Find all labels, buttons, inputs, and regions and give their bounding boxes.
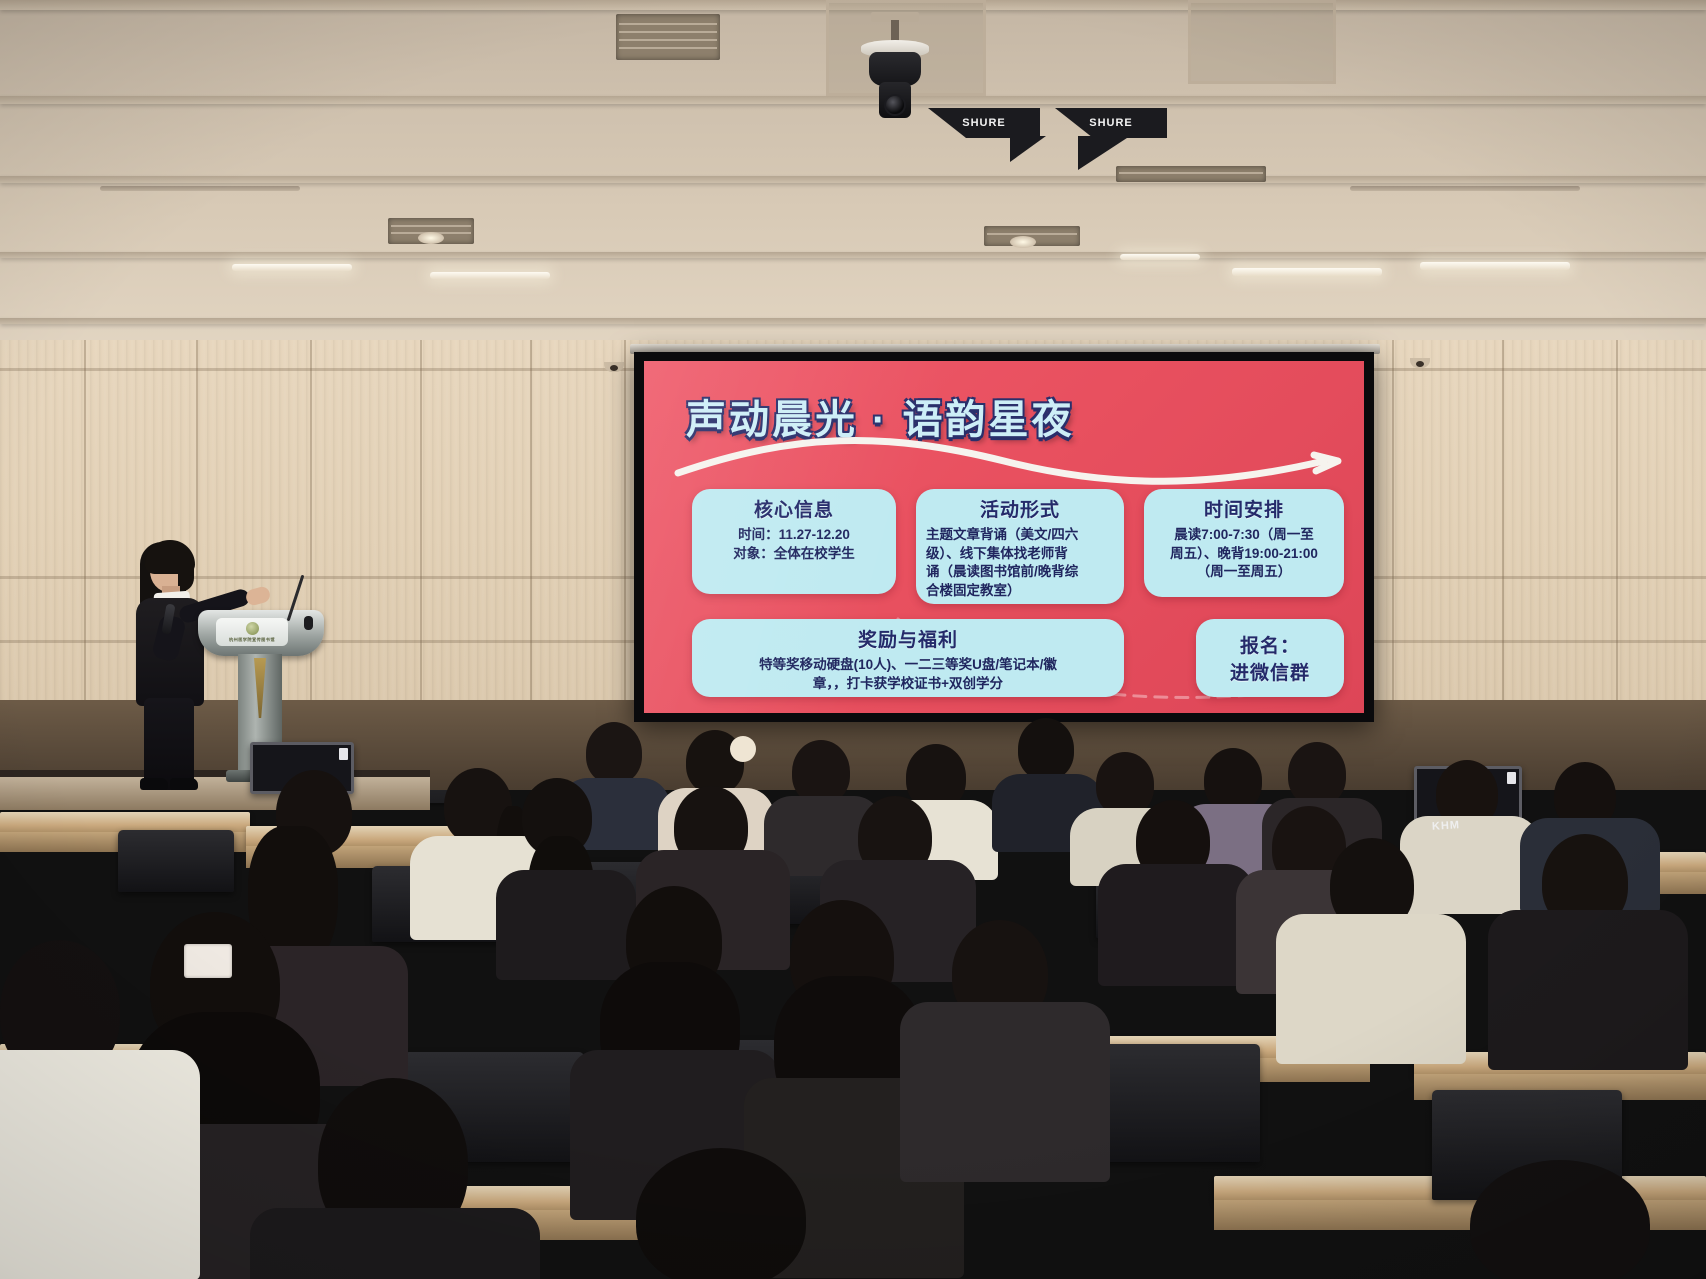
shure-mic-array-tail — [1078, 136, 1130, 170]
shure-mic-array: SHURE — [928, 108, 1040, 138]
seat-back — [118, 830, 234, 892]
slide-card-core-info: 核心信息 时间：11.27-12.20 对象：全体在校学生 — [692, 489, 896, 594]
audience-head — [1018, 718, 1074, 780]
audience-coat — [1098, 864, 1254, 986]
audience-head — [1204, 748, 1262, 812]
card-heading: 活动形式 — [926, 495, 1114, 522]
ceiling-slot — [100, 186, 300, 191]
card-heading: 核心信息 — [702, 495, 886, 522]
card-heading: 报名： — [1240, 631, 1300, 658]
shure-mic-array-tail — [1010, 136, 1046, 162]
audience-head — [792, 740, 850, 804]
ceiling-slot — [1350, 186, 1580, 191]
audience-head — [1470, 1160, 1650, 1279]
card-body: 主题文章背诵（美文/四六 级）、线下集体找老师背 诵（晨读图书馆前/晚背综 合楼… — [926, 526, 1114, 601]
ptz-camera — [855, 12, 935, 162]
hair-tie — [730, 736, 756, 762]
card-heading: 时间安排 — [1154, 495, 1334, 522]
card-subtext: 进微信群 — [1230, 658, 1310, 685]
audience-coat — [1488, 910, 1688, 1070]
ceiling-light-strip — [430, 272, 550, 279]
shure-mic-array: SHURE — [1055, 108, 1167, 138]
downlight — [418, 232, 444, 244]
wall-sensor — [1410, 358, 1430, 368]
audience-head — [1288, 742, 1346, 806]
hair-clip — [184, 944, 232, 978]
school-emblem-icon — [246, 622, 259, 635]
audience-coat — [250, 1208, 540, 1279]
audience-coat — [496, 870, 636, 980]
slide-canvas: 声动晨光 · 语韵星夜 核心信息 时间：11.27-12.20 对象：全体在校学… — [644, 361, 1364, 713]
lecture-hall-photo: SHURE SHURE 声动晨光 · 语韵星夜 — [0, 0, 1706, 1279]
ceiling-light-strip — [232, 264, 352, 271]
audience-coat — [1400, 816, 1540, 914]
audience-head — [586, 722, 642, 784]
slide-card-time-schedule: 时间安排 晨读7:00-7:30（周一至 周五）、晚背19:00-21:00 （… — [1144, 489, 1344, 597]
ceiling-light-strip — [1420, 262, 1570, 270]
slide-card-rewards: 奖励与福利 特等奖移动硬盘(10人)、一二三等奖U盘/笔记本/徽 章，，打卡获学… — [692, 619, 1124, 697]
ceiling-vent — [616, 14, 720, 60]
jacket-text: KHM — [1432, 819, 1461, 832]
audience-head — [1096, 752, 1154, 816]
card-heading: 奖励与福利 — [702, 625, 1114, 652]
downlight — [1010, 236, 1036, 248]
audience-head — [636, 1148, 806, 1279]
ceiling: SHURE SHURE — [0, 0, 1706, 352]
audience-coat — [900, 1002, 1110, 1182]
ceiling-recess-panel — [1188, 0, 1336, 84]
ceiling-vent — [1116, 166, 1266, 182]
card-body: 时间：11.27-12.20 对象：全体在校学生 — [702, 526, 886, 563]
card-body: 晨读7:00-7:30（周一至 周五）、晚背19:00-21:00 （周一至周五… — [1154, 526, 1334, 582]
seat-back — [1090, 1044, 1260, 1162]
podium-nameplate: 杭州医学院宣传图书馆 — [216, 618, 288, 646]
ceiling-light-strip — [1232, 268, 1382, 276]
ceiling-light-strip — [1120, 254, 1200, 260]
slide-card-activity-format: 活动形式 主题文章背诵（美文/四六 级）、线下集体找老师背 诵（晨读图书馆前/晚… — [916, 489, 1124, 604]
card-body: 特等奖移动硬盘(10人)、一二三等奖U盘/笔记本/徽 章，，打卡获学校证书+双创… — [702, 656, 1114, 693]
projection-screen: 声动晨光 · 语韵星夜 核心信息 时间：11.27-12.20 对象：全体在校学… — [634, 352, 1374, 722]
audience-coat — [1276, 914, 1466, 1064]
camera-lens-icon — [884, 94, 906, 116]
audience-coat — [0, 1050, 200, 1279]
slide-card-signup: 报名： 进微信群 — [1196, 619, 1344, 697]
